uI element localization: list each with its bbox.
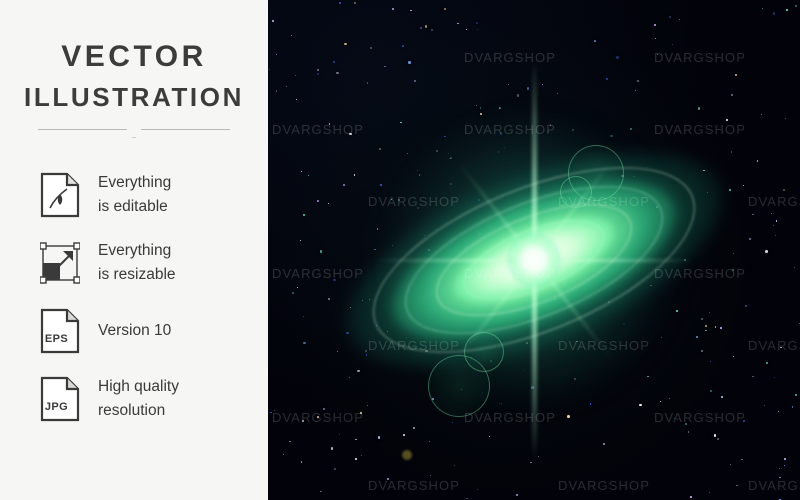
star (784, 458, 786, 460)
star (292, 292, 294, 294)
star (339, 2, 341, 4)
page-title-secondary: ILLUSTRATION (0, 80, 268, 115)
star (308, 175, 310, 177)
star (302, 420, 304, 422)
star (303, 342, 306, 345)
star (301, 461, 303, 463)
star (392, 8, 394, 10)
list-item: EPS Version 10 (40, 297, 268, 365)
star (295, 75, 296, 76)
file-format-badge: JPG (40, 401, 73, 413)
feature-text: Everything is editable (98, 171, 171, 219)
star (779, 477, 780, 478)
feature-line-2: is resizable (98, 263, 176, 287)
star (690, 496, 692, 498)
star (786, 9, 788, 11)
star (709, 492, 710, 493)
star (516, 494, 518, 496)
feature-text: High quality resolution (98, 375, 179, 423)
feature-text: Version 10 (98, 319, 171, 343)
feature-text: Everything is resizable (98, 239, 176, 287)
star (757, 160, 758, 161)
star (761, 114, 762, 115)
star (766, 362, 769, 365)
star (303, 316, 304, 317)
star (291, 35, 292, 36)
feature-line-1: Everything (98, 239, 176, 263)
star (286, 86, 287, 87)
star (387, 478, 389, 480)
star (301, 171, 302, 172)
star (773, 225, 775, 227)
feature-line-1: Everything (98, 171, 171, 195)
star (444, 8, 447, 11)
lens-flare-dot (402, 450, 412, 460)
star (354, 2, 356, 4)
star (655, 38, 656, 39)
info-panel: VECTOR ILLUSTRATION Everything (0, 0, 268, 500)
divider-notch (126, 129, 142, 138)
star (297, 287, 298, 288)
star (431, 29, 433, 31)
document-pen-icon (40, 172, 80, 218)
feature-line-1: High quality (98, 375, 179, 399)
star (765, 250, 768, 253)
star (477, 489, 478, 490)
star (778, 411, 779, 412)
page-title-primary: VECTOR (0, 38, 268, 76)
jpg-file-icon: JPG (40, 376, 80, 422)
star (785, 118, 787, 120)
star (779, 468, 780, 469)
star (774, 377, 775, 378)
star (594, 40, 596, 42)
list-item: JPG High quality resolution (40, 365, 268, 433)
promo-image: VECTOR ILLUSTRATION Everything (0, 0, 800, 500)
star (771, 213, 772, 214)
star (276, 90, 277, 91)
star (276, 54, 277, 55)
star (792, 406, 794, 408)
galaxy-core (507, 233, 561, 287)
star (764, 405, 766, 407)
star (296, 99, 297, 100)
star (269, 69, 270, 70)
star (274, 410, 275, 411)
feature-line-2: resolution (98, 399, 179, 423)
galaxy-artwork: DVARGSHOPDVARGSHOPDVARGSHOPDVARGSHOPDVAR… (268, 0, 800, 500)
star (270, 412, 271, 413)
resize-arrow-icon (40, 240, 80, 286)
feature-line-1: Version 10 (98, 319, 171, 343)
lens-flare-circle (464, 332, 504, 372)
title-block: VECTOR ILLUSTRATION (0, 0, 268, 115)
star (775, 235, 776, 236)
title-divider (0, 129, 268, 143)
list-item: Everything is resizable (40, 229, 268, 297)
star (289, 441, 291, 443)
feature-list: Everything is editable (0, 161, 268, 433)
star (752, 376, 754, 378)
star (784, 465, 785, 466)
star (320, 491, 322, 493)
star (420, 27, 422, 29)
star (749, 238, 751, 240)
star (425, 25, 427, 27)
list-item: Everything is editable (40, 161, 268, 229)
star (300, 240, 301, 241)
lens-flare-circle (560, 176, 592, 208)
star (736, 485, 737, 486)
star (466, 29, 467, 30)
star (466, 498, 468, 500)
eps-file-icon: EPS (40, 308, 80, 354)
spiral-galaxy (319, 45, 749, 475)
star (457, 23, 459, 25)
feature-line-2: is editable (98, 195, 171, 219)
star (679, 19, 680, 20)
file-format-badge: EPS (40, 333, 73, 345)
star (794, 267, 796, 269)
star (795, 5, 797, 7)
star (780, 347, 782, 349)
star (410, 10, 411, 11)
star (752, 214, 754, 216)
star (776, 220, 778, 222)
star (795, 394, 797, 396)
star (303, 214, 306, 217)
star (476, 22, 479, 25)
star (430, 475, 431, 476)
star (783, 189, 785, 191)
star (654, 24, 656, 26)
star (762, 8, 763, 9)
star (283, 454, 284, 455)
star (272, 20, 274, 22)
star (669, 16, 671, 18)
star (773, 12, 776, 15)
star (477, 29, 478, 30)
